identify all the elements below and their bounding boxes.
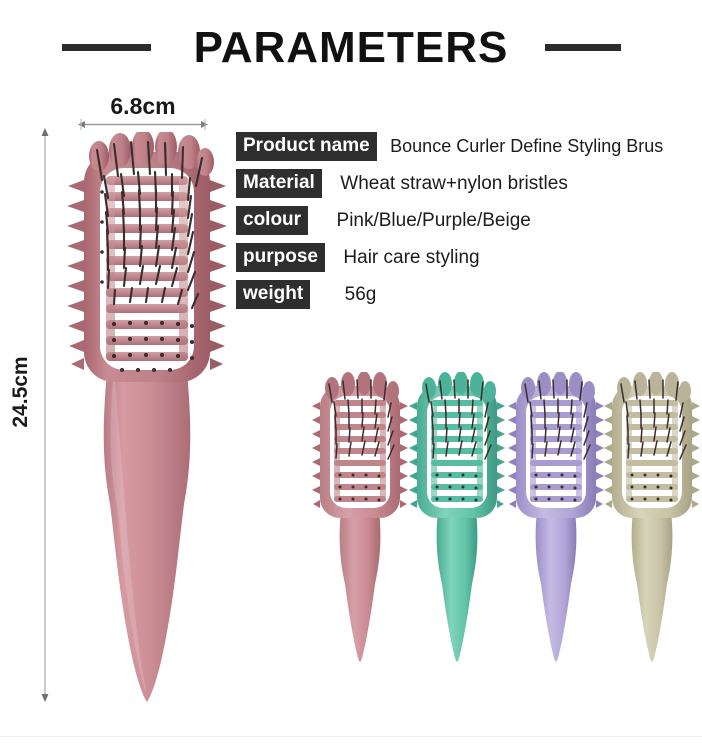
param-value-material: Wheat straw+nylon bristles [340, 169, 568, 198]
title-dash-right-icon [545, 44, 621, 51]
variant-brush-pink [312, 372, 408, 662]
parameters-table: Product name Bounce Curler Define Stylin… [236, 132, 702, 317]
colour-variants-row [312, 372, 702, 662]
bottom-divider [0, 736, 702, 737]
variant-brush-purple [508, 372, 604, 662]
param-key-purpose: purpose [236, 243, 325, 272]
param-value-product-name: Bounce Curler Define Styling Brus [390, 132, 663, 161]
table-row: Material Wheat straw+nylon bristles [236, 169, 702, 206]
variant-brush-blue [409, 372, 505, 662]
param-value-purpose: Hair care styling [343, 243, 479, 272]
main-product-image-pink-brush [62, 132, 232, 702]
table-row: colour Pink/Blue/Purple/Beige [236, 206, 702, 243]
width-dimension-arrow-icon [78, 119, 208, 130]
param-key-product-name: Product name [236, 132, 377, 161]
table-row: weight 56g [236, 280, 702, 317]
variant-brush-beige [604, 372, 700, 662]
param-key-colour: colour [236, 206, 308, 235]
table-row: purpose Hair care styling [236, 243, 702, 280]
product-parameters-infographic: PARAMETERS 6.8cm 24.5cm Product name Bou… [0, 0, 702, 745]
param-value-colour: Pink/Blue/Purple/Beige [337, 206, 531, 235]
page-title-row: PARAMETERS [0, 22, 702, 74]
brush-head [67, 132, 227, 382]
height-dimension-label: 24.5cm [9, 327, 33, 457]
table-row: Product name Bounce Curler Define Stylin… [236, 132, 702, 169]
param-value-weight: 56g [345, 280, 377, 309]
param-key-weight: weight [236, 280, 310, 309]
height-dimension-arrow-icon [39, 128, 51, 702]
width-dimension-label: 6.8cm [78, 93, 208, 120]
param-key-material: Material [236, 169, 322, 198]
